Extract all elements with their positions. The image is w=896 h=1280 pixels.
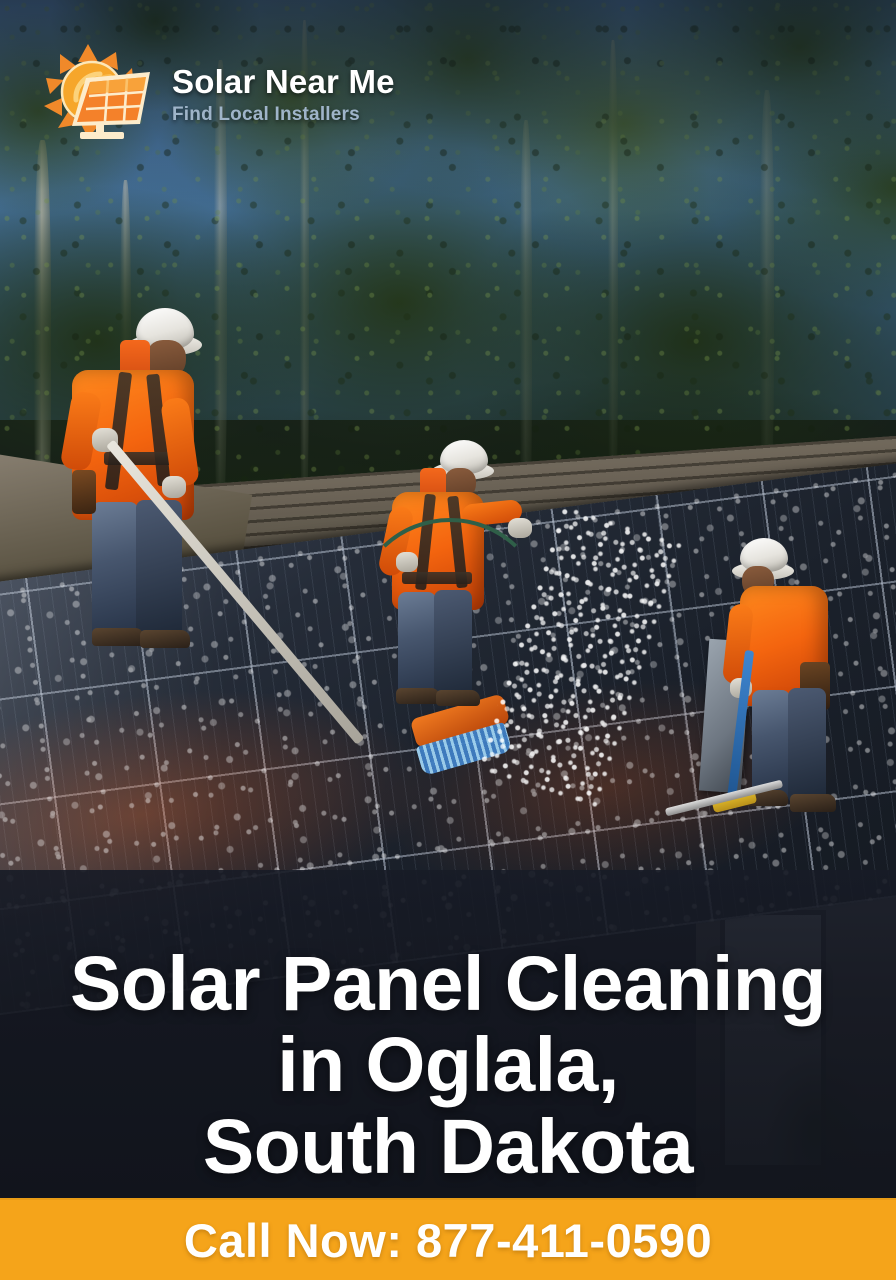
call-now-label[interactable]: Call Now: 877-411-0590: [184, 1213, 712, 1268]
headline-line-3: South Dakota: [28, 1107, 868, 1189]
work-boot: [790, 794, 836, 812]
work-glove: [162, 476, 186, 498]
headline-line-2: in Oglala,: [28, 1025, 868, 1107]
call-now-bar[interactable]: Call Now: 877-411-0590: [0, 1198, 896, 1280]
worker-jeans: [92, 502, 138, 638]
brand-text: Solar Near Me Find Local Installers: [172, 65, 395, 124]
poster-canvas: Solar Near Me Find Local Installers Sola…: [0, 0, 896, 1280]
headline-line-1: Solar Panel Cleaning: [28, 944, 868, 1026]
work-glove: [508, 518, 532, 538]
brand-tagline: Find Local Installers: [172, 105, 395, 124]
worker-jeans: [788, 688, 826, 802]
brand-logo[interactable]: Solar Near Me Find Local Installers: [42, 42, 395, 146]
page-title: Solar Panel Cleaning in Oglala, South Da…: [0, 944, 896, 1189]
brand-title: Solar Near Me: [172, 65, 395, 98]
sun-solar-panel-icon: [42, 42, 158, 146]
tool-pouch: [72, 470, 96, 514]
work-boot: [140, 630, 190, 648]
work-boot: [92, 628, 144, 646]
